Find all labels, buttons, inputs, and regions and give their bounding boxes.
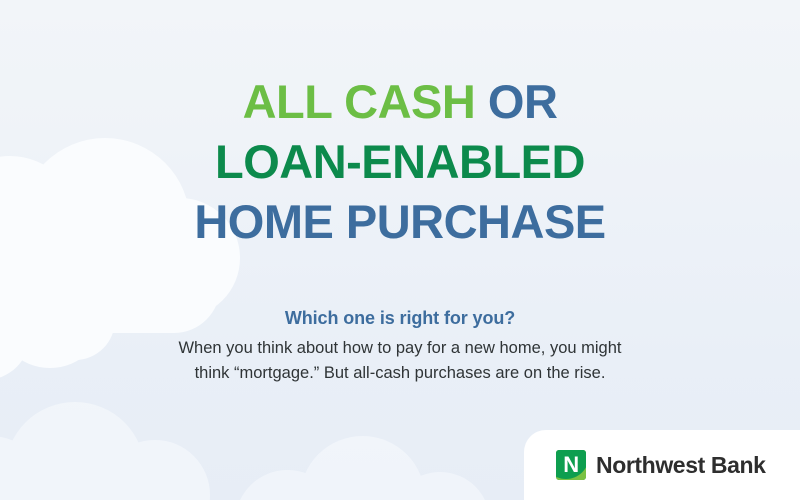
headline: ALL CASH OR LOAN-ENABLED HOME PURCHASE [0, 78, 800, 245]
headline-or: OR [488, 75, 558, 128]
body-copy-line-2: think “mortgage.” But all-cash purchases… [150, 361, 650, 386]
headline-all-cash: ALL CASH [243, 75, 476, 128]
logo-wordmark-northwest: Northwest [596, 452, 705, 478]
banner-content: ALL CASH OR LOAN-ENABLED HOME PURCHASE W… [0, 0, 800, 500]
headline-line-1: ALL CASH OR [0, 78, 800, 125]
marketing-banner: ALL CASH OR LOAN-ENABLED HOME PURCHASE W… [0, 0, 800, 500]
logo-letter: N [556, 450, 586, 480]
headline-line-3: HOME PURCHASE [0, 198, 800, 245]
logo-card: N Northwest Bank [524, 430, 800, 500]
body-copy: When you think about how to pay for a ne… [150, 336, 650, 386]
headline-line-2: LOAN-ENABLED [0, 138, 800, 185]
northwest-bank-logo-icon: N [556, 450, 586, 480]
body-copy-line-1: When you think about how to pay for a ne… [150, 336, 650, 361]
logo-wordmark-bank: Bank [711, 452, 766, 478]
logo-wordmark: Northwest Bank [596, 452, 766, 479]
subheading: Which one is right for you? [0, 308, 800, 329]
